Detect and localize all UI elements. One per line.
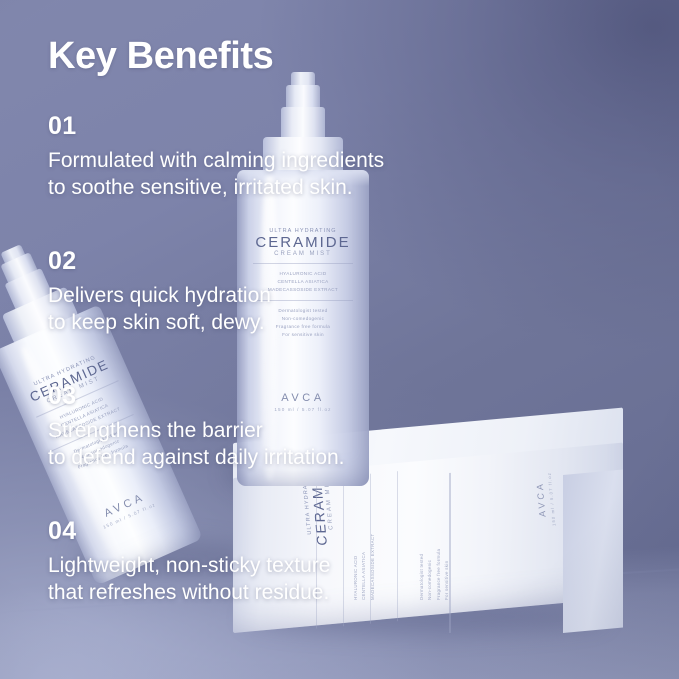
benefit-number-04: 04	[48, 518, 330, 546]
benefit-text-01: Formulated with calming ingredients to s…	[48, 147, 384, 203]
benefit-text-04: Lightweight, non-sticky texture that ref…	[48, 552, 330, 608]
benefit-text-02: Delivers quick hydration to keep skin so…	[48, 282, 271, 338]
page-title: Key Benefits	[48, 37, 273, 75]
benefit-number-01: 01	[48, 113, 384, 141]
benefit-item-04: 04 Lightweight, non-sticky texture that …	[48, 518, 330, 607]
product-benefits-image: ULTRA HYDRATING CERAMIDE CREAM MIST HYAL…	[0, 0, 679, 679]
benefits-text-overlay: Key Benefits 01 Formulated with calming …	[48, 0, 608, 679]
benefit-item-02: 02 Delivers quick hydration to keep skin…	[48, 248, 271, 337]
benefit-item-03: 03 Strengthens the barrier to defend aga…	[48, 383, 345, 472]
benefit-text-03: Strengthens the barrier to defend agains…	[48, 417, 345, 473]
benefit-number-03: 03	[48, 383, 345, 411]
benefit-number-02: 02	[48, 248, 271, 276]
benefit-item-01: 01 Formulated with calming ingredients t…	[48, 113, 384, 202]
